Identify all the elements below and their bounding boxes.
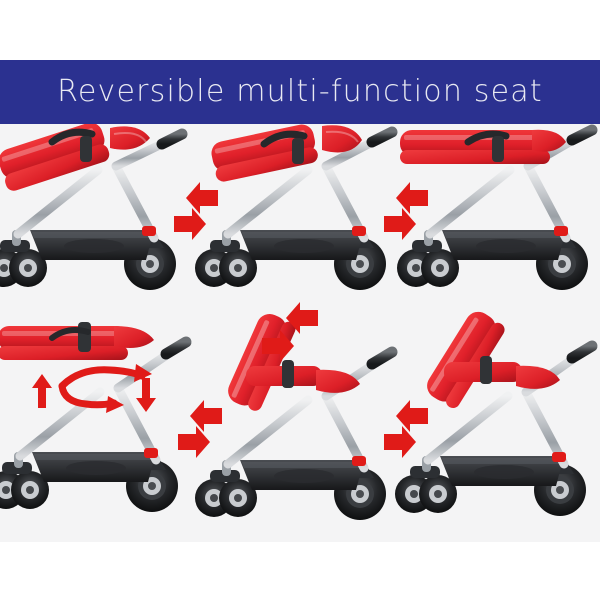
- banner-title: Reversible multi-function seat: [57, 77, 543, 107]
- stroller-flat-bassinet-mode: [397, 130, 592, 290]
- arrow-pair-row2-right: [384, 400, 428, 458]
- arrow-pair-row2-left: [178, 400, 222, 458]
- stroller-reclined-forward-facing: [195, 124, 392, 290]
- stroller-upright-parent-facing: [195, 310, 392, 520]
- arrow-left-icon: [186, 182, 218, 214]
- arrow-left-icon: [396, 400, 428, 432]
- arrow-right-icon: [384, 426, 416, 458]
- bottom-white-strip: [0, 542, 600, 600]
- banner: Reversible multi-function seat: [0, 60, 600, 124]
- arrow-left-icon: [190, 400, 222, 432]
- diagram-panel: [0, 124, 600, 542]
- top-white-strip: [0, 0, 600, 60]
- arrow-right-icon: [174, 208, 206, 240]
- stroller-folded-forward-facing: [0, 124, 182, 290]
- arrow-left-icon: [396, 182, 428, 214]
- arrow-up-icon: [32, 374, 52, 408]
- arrow-down-icon: [136, 378, 156, 412]
- stroller-seat-rotating: [0, 322, 186, 512]
- arrow-pair-row1-left: [174, 182, 218, 240]
- arrow-right-icon: [178, 426, 210, 458]
- arrow-pair-row1-right: [384, 182, 428, 240]
- page-root: Reversible multi-function seat: [0, 0, 600, 600]
- arrow-right-icon: [384, 208, 416, 240]
